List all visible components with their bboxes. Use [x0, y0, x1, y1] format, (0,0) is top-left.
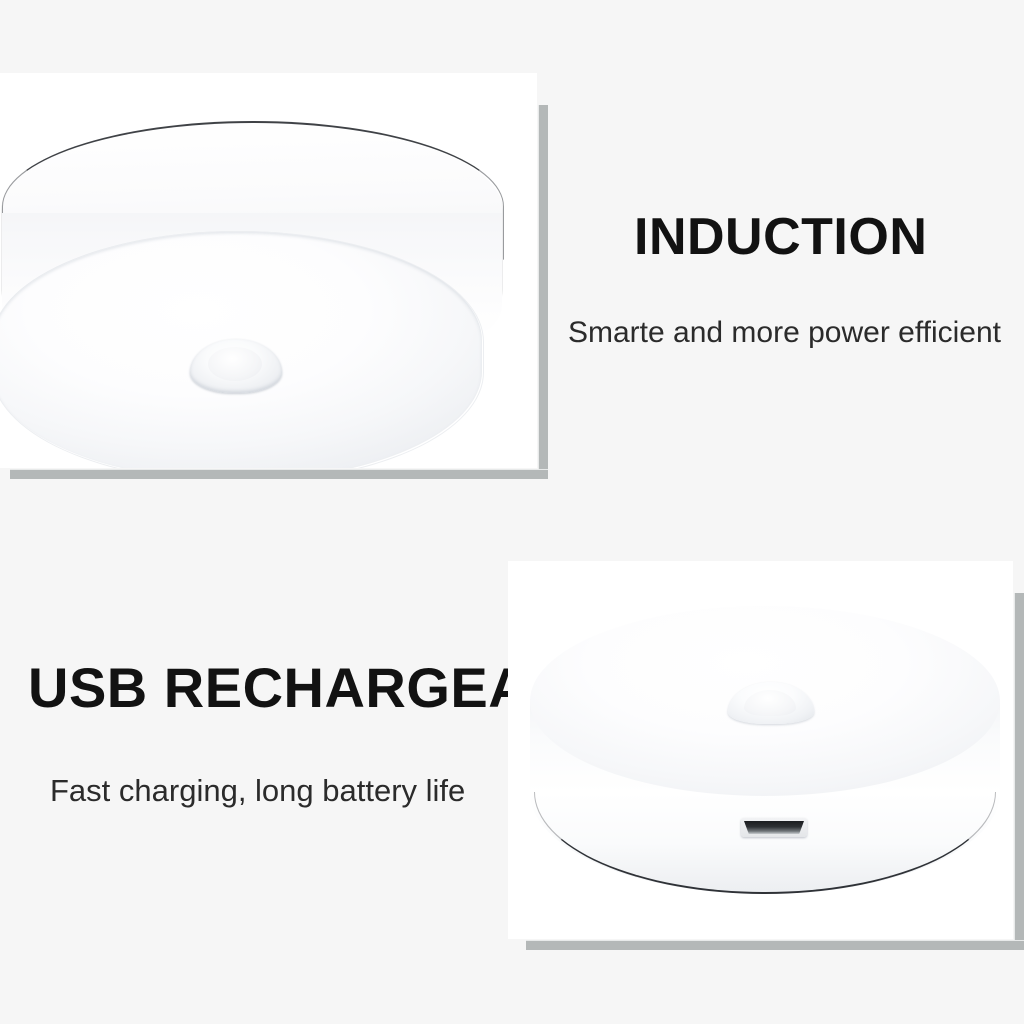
panel-shadow-right: [538, 105, 548, 479]
pir-sensor-lens: [208, 347, 262, 381]
product-image-bottom: [508, 561, 1013, 939]
puck-light-angled-view: [518, 596, 1013, 926]
panel-shadow-right: [1014, 593, 1024, 950]
puck-bottom-edge: [534, 792, 996, 894]
micro-usb-port-opening: [744, 821, 804, 834]
panel-shadow-bottom: [10, 469, 548, 479]
product-photo-panel-top: [0, 73, 537, 468]
panel-shadow-bottom: [526, 940, 1024, 950]
product-image-top: [0, 73, 537, 468]
puck-light-top-view: [0, 113, 537, 443]
usb-rechargeable-subheading: Fast charging, long battery life: [50, 775, 465, 806]
product-feature-graphic: INDUCTION Smarte and more power efficien…: [0, 0, 1024, 1024]
product-photo-panel-bottom: [508, 561, 1013, 939]
induction-heading: INDUCTION: [634, 211, 927, 263]
induction-subheading: Smarte and more power efficient: [568, 318, 1001, 348]
micro-usb-port-icon: [741, 818, 807, 837]
